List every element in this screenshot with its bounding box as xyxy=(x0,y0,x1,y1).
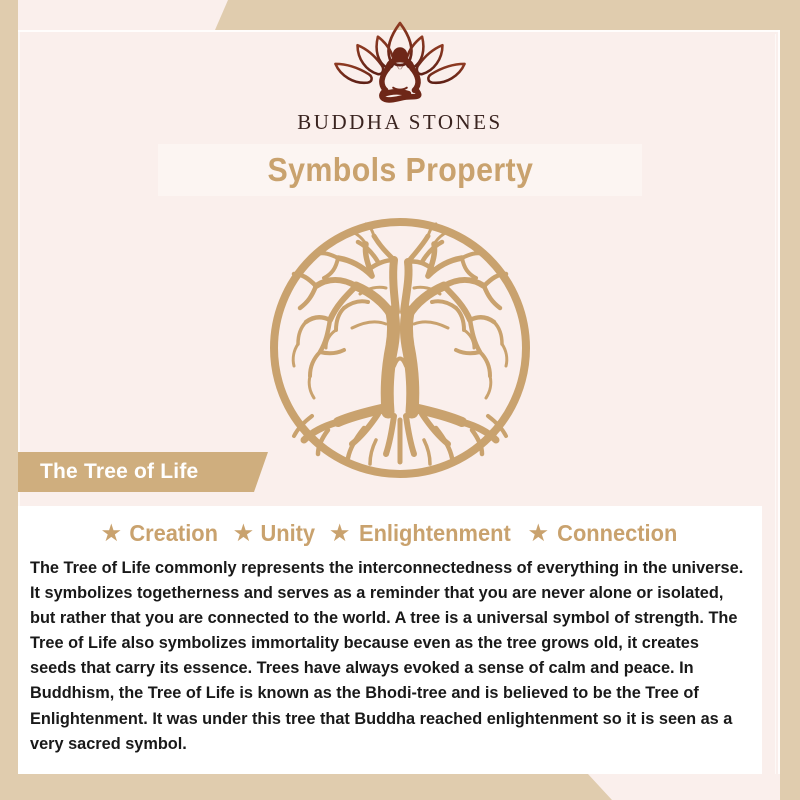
keyword-list: ★ Creation ★ Unity ★ Enlightenment ★ Con… xyxy=(30,514,752,552)
lotus-meditation-figure-icon xyxy=(315,18,485,106)
keyword-item: ★ Creation xyxy=(102,520,220,547)
section-ribbon-label: The Tree of Life xyxy=(40,460,198,484)
frame-bottom-notch xyxy=(580,774,800,800)
tree-of-life-icon xyxy=(268,216,532,480)
frame-bottom-band xyxy=(0,774,800,800)
keyword-label: Connection xyxy=(557,520,677,547)
title-band: Symbols Property xyxy=(158,144,642,196)
brand-name: BUDDHA STONES xyxy=(297,110,502,135)
brand-logo: BUDDHA STONES xyxy=(0,18,800,148)
keyword-label: Enlightenment xyxy=(359,520,511,547)
star-icon: ★ xyxy=(234,523,253,544)
content-panel: ★ Creation ★ Unity ★ Enlightenment ★ Con… xyxy=(18,506,762,774)
keyword-item: ★ Unity xyxy=(234,520,316,547)
poster-root: BUDDHA STONES Symbols Property xyxy=(0,0,800,800)
keyword-item: ★ Connection xyxy=(529,520,680,547)
star-icon: ★ xyxy=(529,523,548,544)
keyword-label: Unity xyxy=(260,520,315,547)
section-body-text: The Tree of Life commonly represents the… xyxy=(30,556,748,757)
page-title: Symbols Property xyxy=(267,151,533,189)
section-ribbon: The Tree of Life xyxy=(18,452,268,492)
keyword-item: ★ Enlightenment xyxy=(330,520,515,547)
star-icon: ★ xyxy=(330,523,349,544)
star-icon: ★ xyxy=(102,523,121,544)
keyword-label: Creation xyxy=(129,520,218,547)
